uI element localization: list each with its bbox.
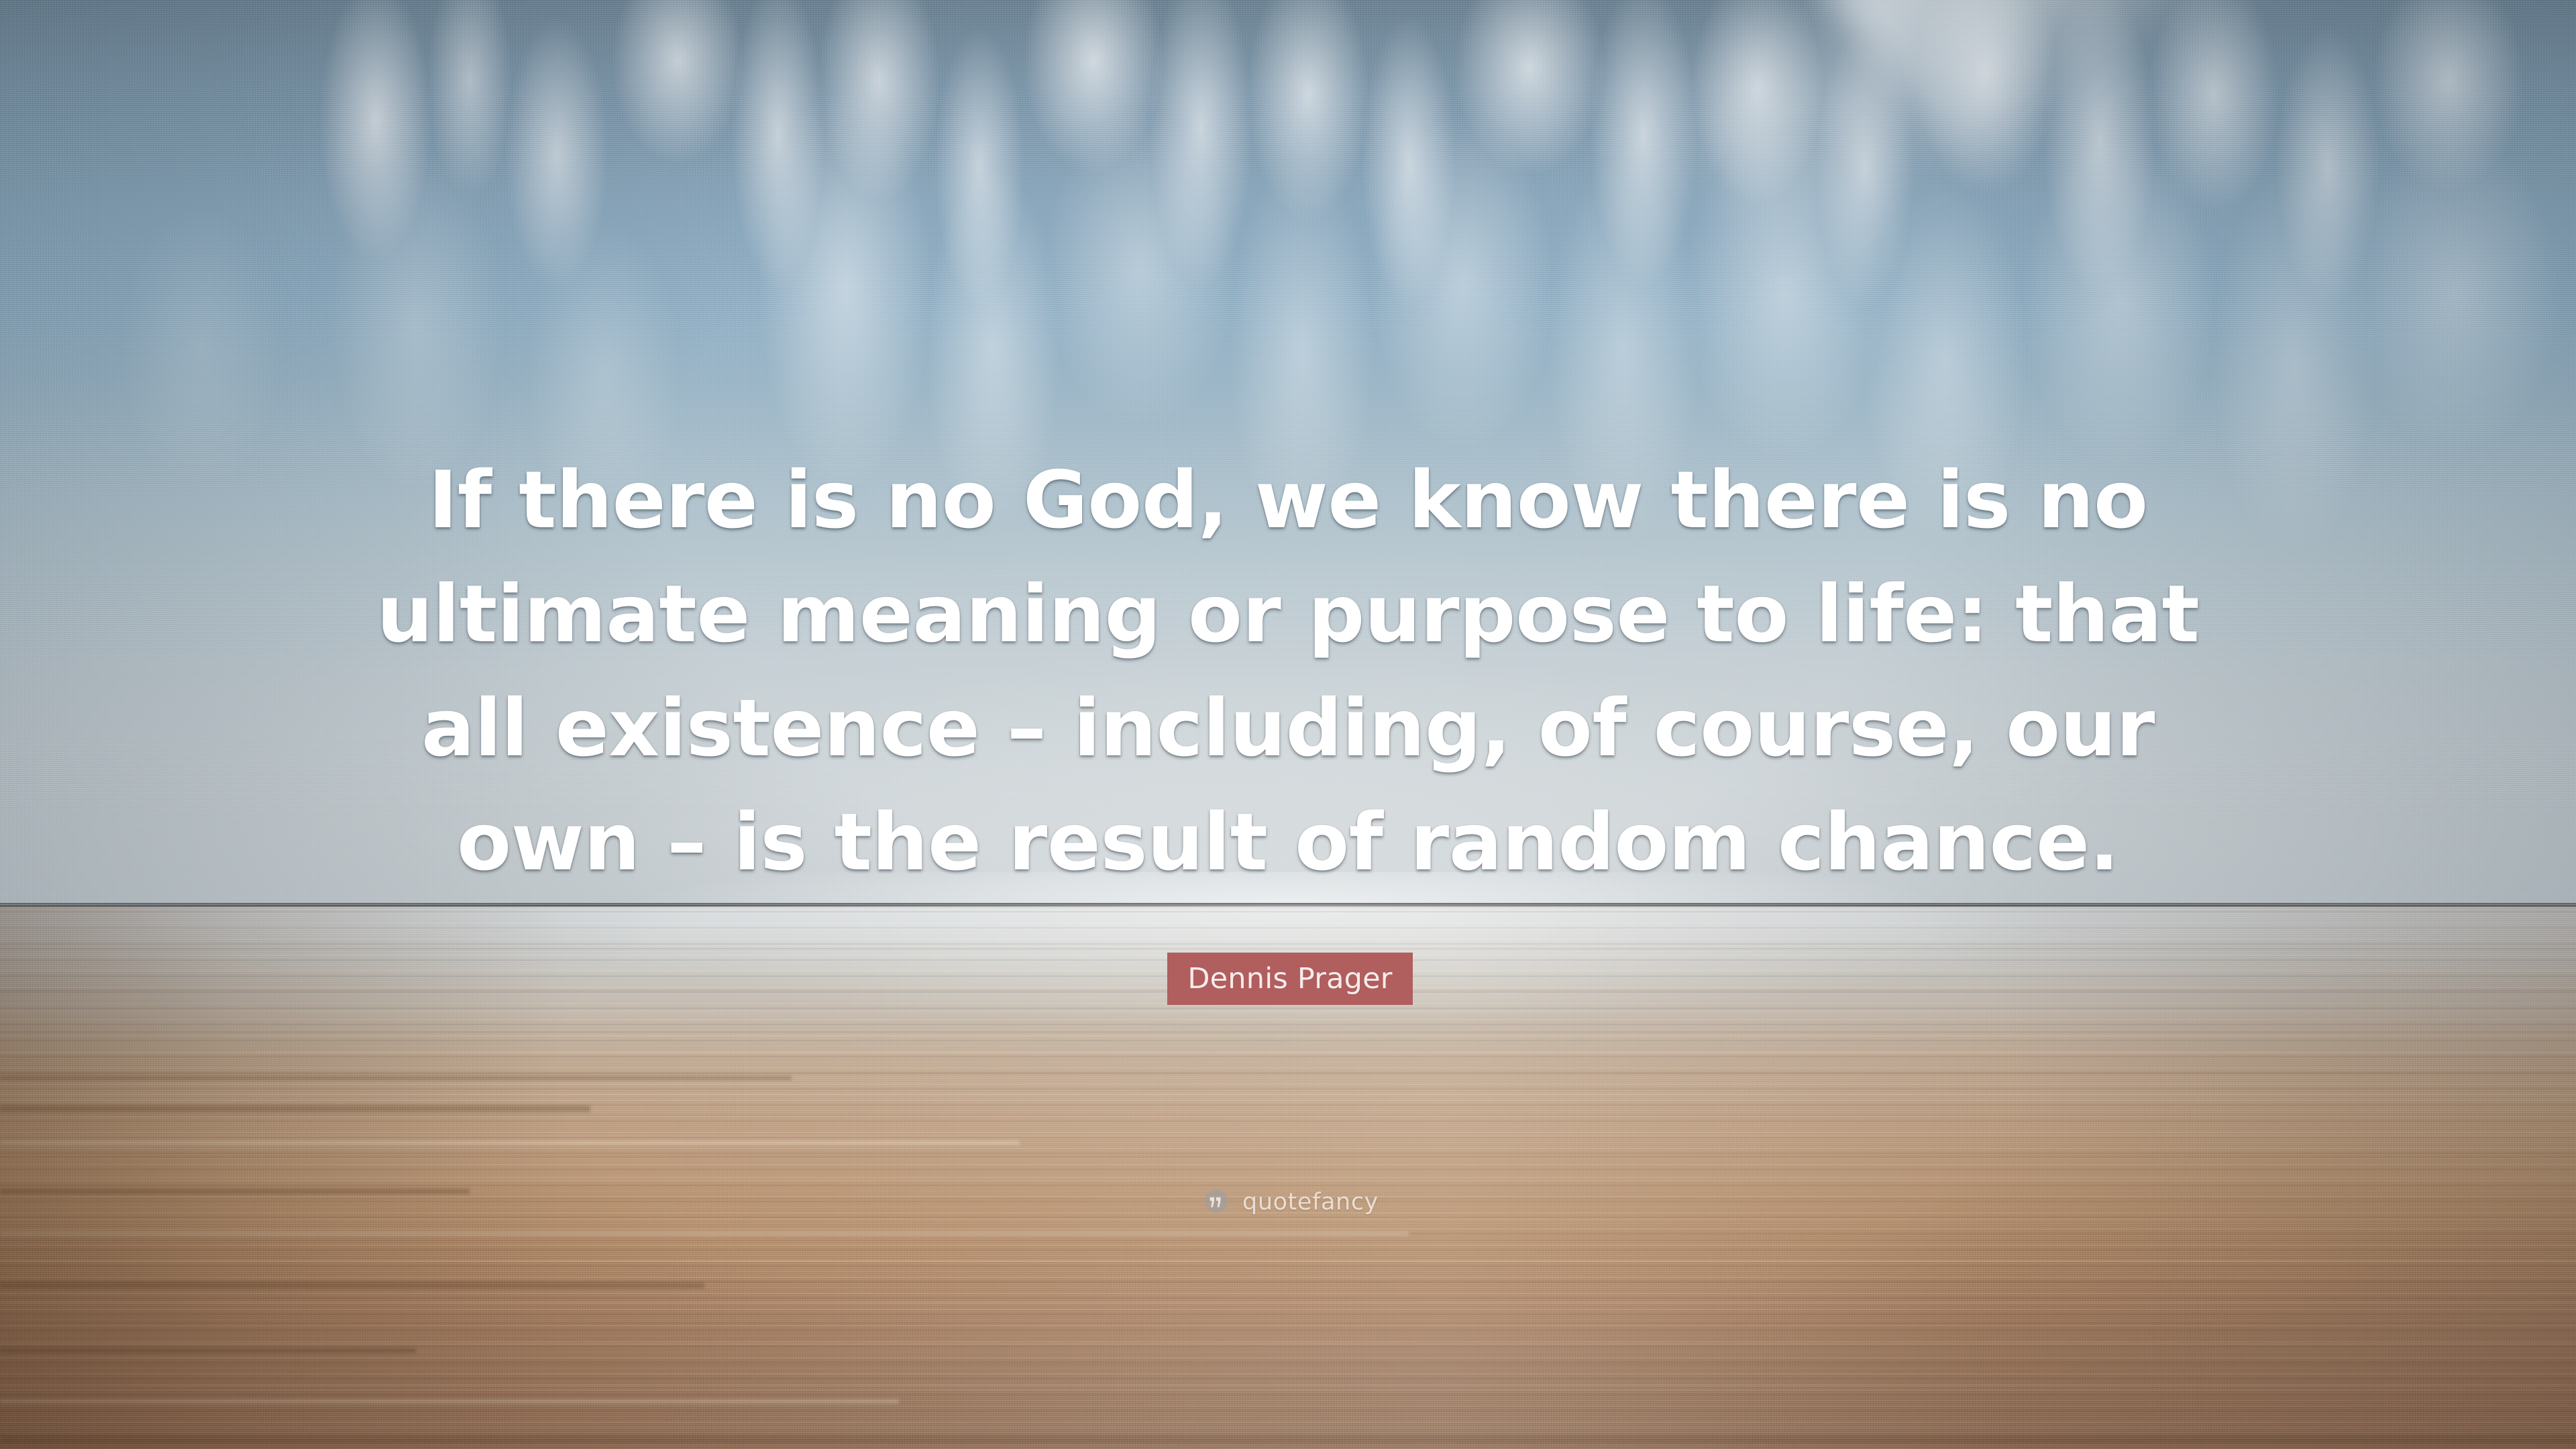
quotefancy-brand-text: quotefancy bbox=[1242, 1189, 1379, 1216]
double-quote-badge-icon bbox=[1201, 1187, 1230, 1217]
quote-line: all existence – including, of course, ou… bbox=[362, 671, 2214, 785]
quote-line: own – is the result of random chance. bbox=[362, 785, 2214, 899]
author-badge[interactable]: Dennis Prager bbox=[1167, 953, 1413, 1005]
quote-line: If there is no God, we know there is no bbox=[362, 443, 2214, 557]
quote-poster: If there is no God, we know there is no … bbox=[0, 0, 2576, 1449]
quote-text: If there is no God, we know there is no … bbox=[362, 443, 2214, 899]
quote-line: ultimate meaning or purpose to life: tha… bbox=[362, 557, 2214, 671]
quotefancy-watermark[interactable]: quotefancy bbox=[1201, 1187, 1379, 1217]
author-name: Dennis Prager bbox=[1187, 962, 1392, 996]
